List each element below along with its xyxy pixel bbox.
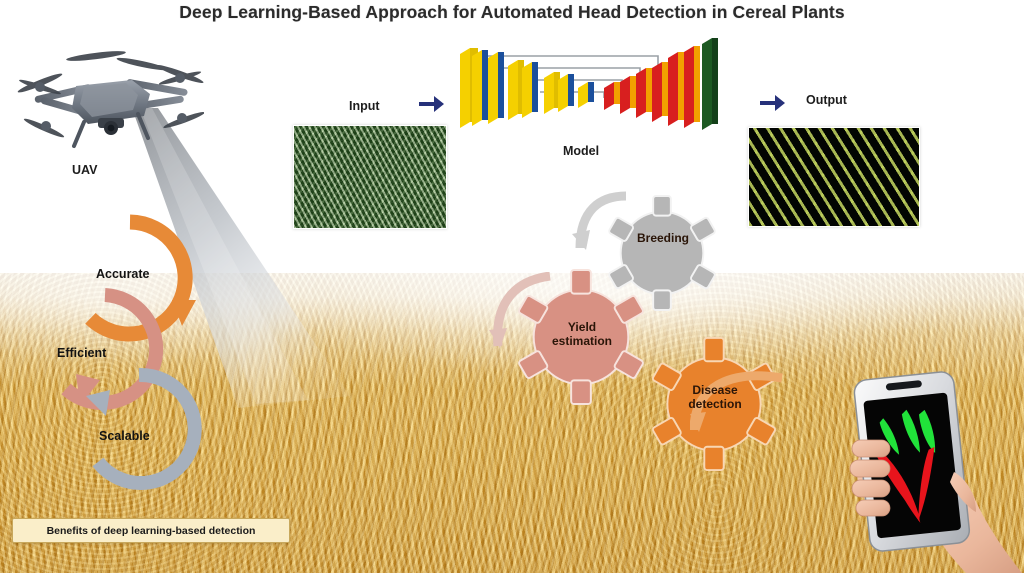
graphical-abstract: Deep Learning-Based Approach for Automat… <box>0 0 1024 573</box>
benefits-banner: Benefits of deep learning-based detectio… <box>12 518 290 543</box>
output-label: Output <box>806 93 847 107</box>
right-arrow-icon <box>760 93 786 113</box>
uav-label: UAV <box>72 163 97 177</box>
hand-holding-phone <box>826 352 1024 573</box>
input-image <box>293 125 447 229</box>
benefit-label-accurate: Accurate <box>96 267 150 281</box>
benefit-label-efficient: Efficient <box>57 346 106 360</box>
gear-label-line1: Yield <box>540 321 624 335</box>
input-label: Input <box>349 99 380 113</box>
model-label: Model <box>563 144 599 158</box>
uav-drone-icon <box>14 42 204 157</box>
page-title: Deep Learning-Based Approach for Automat… <box>0 2 1024 23</box>
unet-model-diagram <box>452 26 727 151</box>
output-image <box>748 127 920 227</box>
gear-label-line1: Disease <box>673 384 757 398</box>
gear-label-line2: estimation <box>540 335 624 349</box>
gear-label-line2: detection <box>673 398 757 412</box>
gear-label-breeding: Breeding <box>625 232 701 246</box>
right-arrow-icon <box>419 94 445 114</box>
gear-label-disease-detection: Disease detection <box>673 384 757 412</box>
benefit-label-scalable: Scalable <box>99 429 150 443</box>
gear-label-yield-estimation: Yield estimation <box>540 321 624 349</box>
